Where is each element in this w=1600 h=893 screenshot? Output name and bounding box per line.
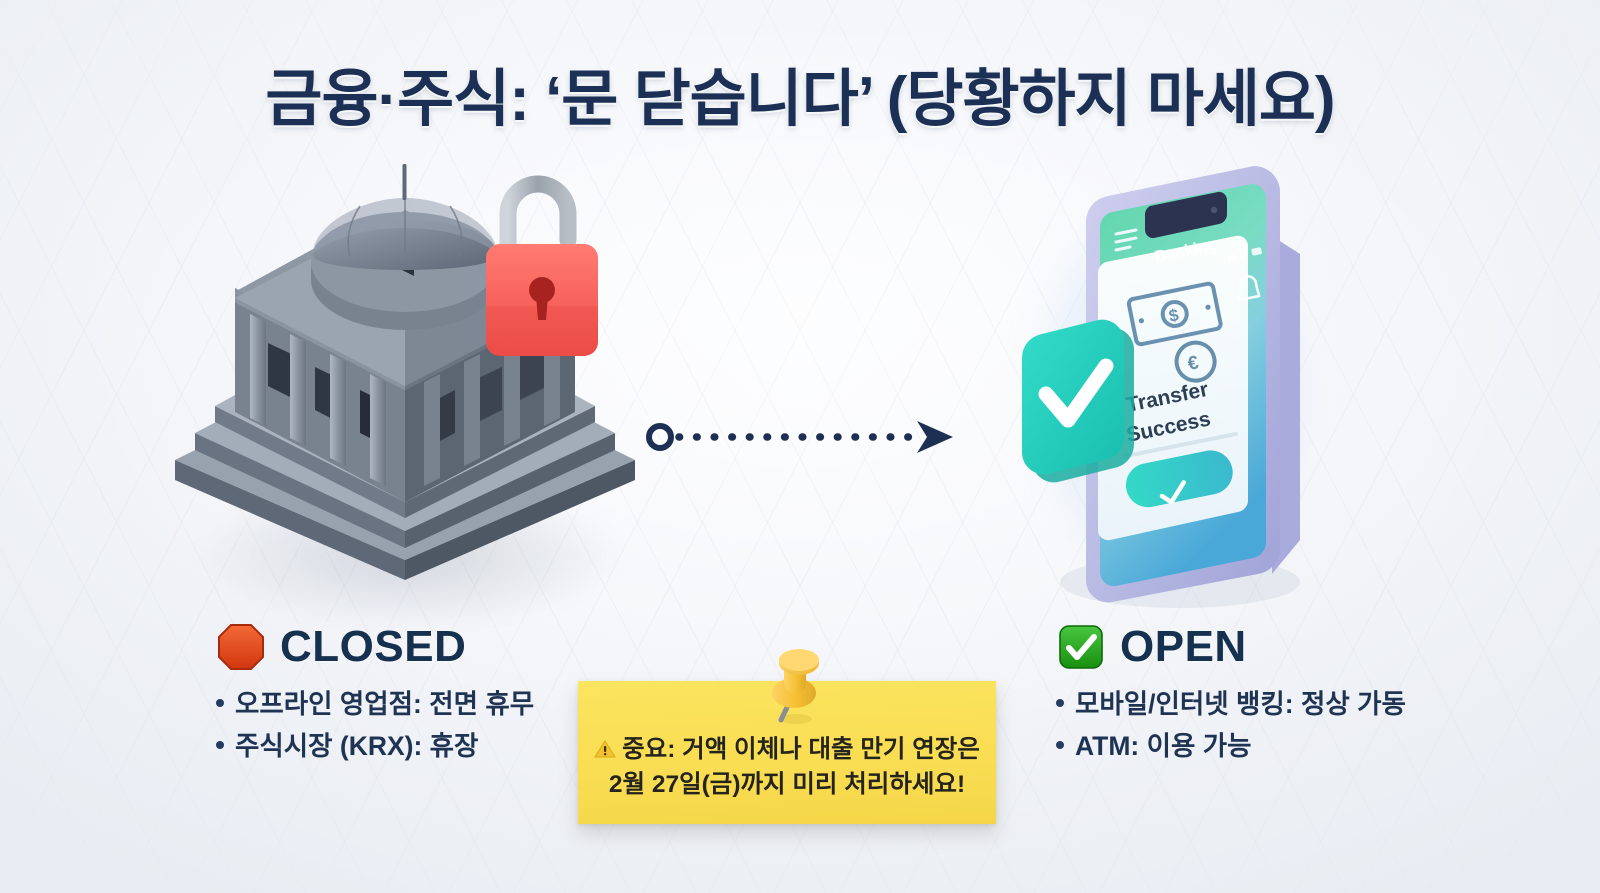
arrow-head	[917, 421, 953, 453]
arrow-origin-dot	[649, 426, 671, 448]
open-items: 모바일/인터넷 뱅킹: 정상 가동 ATM: 이용 가능	[1056, 684, 1526, 768]
note-line-1: 중요: 거액 이체나 대출 만기 연장은	[592, 733, 982, 768]
list-item-text: ATM: 이용 가능	[1075, 726, 1252, 768]
list-item-text: 오프라인 영업점: 전면 휴무	[235, 684, 534, 726]
closed-heading: CLOSED	[216, 622, 686, 672]
bank-dome	[311, 164, 499, 330]
success-check-badge	[1022, 320, 1134, 483]
open-heading: OPEN	[1056, 622, 1526, 672]
infographic-canvas: 금융·주식: ‘문 닫습니다’ (당황하지 마세요)	[0, 0, 1600, 893]
page-title: 금융·주식: ‘문 닫습니다’ (당황하지 마세요)	[0, 48, 1600, 138]
phone-illustration: Banking $ €	[1000, 150, 1330, 620]
list-item: 모바일/인터넷 뱅킹: 정상 가동	[1056, 684, 1526, 726]
bullet-dot	[1056, 699, 1064, 707]
pushpin-icon	[756, 645, 830, 725]
mobile-banking-graphic: Banking $ €	[1000, 150, 1330, 620]
bank-illustration	[150, 150, 670, 620]
note-line-1-text: 중요: 거액 이체나 대출 만기 연장은	[622, 736, 980, 763]
bullet-dot	[1056, 741, 1064, 749]
open-status-group: OPEN 모바일/인터넷 뱅킹: 정상 가동 ATM: 이용 가능	[1056, 622, 1526, 768]
closed-label: CLOSED	[280, 625, 466, 669]
note-line-2: 2월 27일(금)까지 미리 처리하세요!	[592, 768, 982, 803]
bullet-dot	[216, 699, 224, 707]
octagon-stop-icon	[216, 622, 266, 672]
green-check-box-icon	[1056, 622, 1106, 672]
open-label: OPEN	[1120, 625, 1247, 669]
flow-arrow	[645, 415, 955, 459]
warning-triangle-icon	[594, 739, 616, 759]
list-item-text: 주식시장 (KRX): 휴장	[235, 726, 478, 768]
bank-building-graphic	[150, 150, 670, 620]
bullet-dot	[216, 741, 224, 749]
note-text: 중요: 거액 이체나 대출 만기 연장은 2월 27일(금)까지 미리 처리하세…	[578, 733, 996, 803]
list-item: ATM: 이용 가능	[1056, 726, 1526, 768]
important-sticky-note: 중요: 거액 이체나 대출 만기 연장은 2월 27일(금)까지 미리 처리하세…	[578, 681, 996, 824]
padlock-icon	[486, 184, 598, 356]
list-item-text: 모바일/인터넷 뱅킹: 정상 가동	[1075, 684, 1406, 726]
